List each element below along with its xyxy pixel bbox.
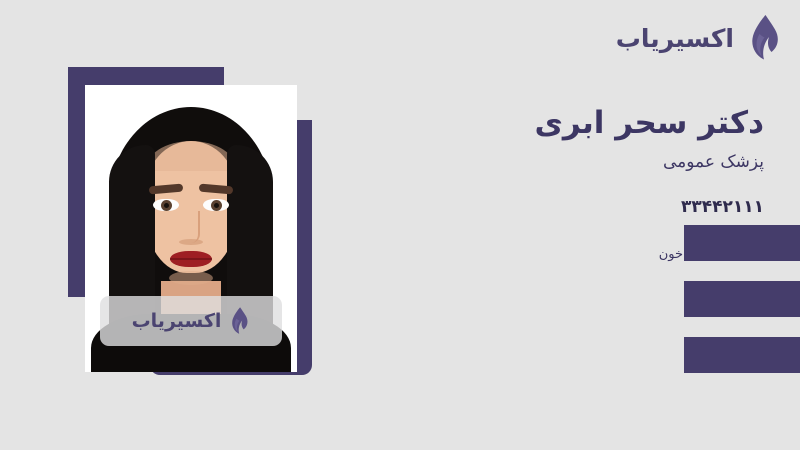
decor-bar-2 [684,281,800,317]
flame-droplet-icon [226,306,250,336]
doctor-specialty: پزشک عمومی [344,151,764,173]
photo-composition: اکسیریاب [0,0,340,450]
brand-name: اکسیریاب [616,26,734,51]
brand-logo[interactable]: اکسیریاب [616,14,782,62]
decor-bar-1 [684,225,800,261]
photo-watermark: اکسیریاب [100,296,282,346]
decor-bar-3 [684,337,800,373]
flame-droplet-icon [742,14,782,62]
phone-number[interactable]: ۳۳۴۴۲۱۱۱ [344,197,764,217]
doctor-name: دکتر سحر ابری [344,104,764,143]
watermark-text: اکسیریاب [132,310,222,332]
doctor-photo[interactable]: اکسیریاب [85,85,297,372]
doctor-profile-card: اکسیریاب دکتر سحر ابری پزشک عمومی ۳۳۴۴۲۱… [0,0,800,450]
